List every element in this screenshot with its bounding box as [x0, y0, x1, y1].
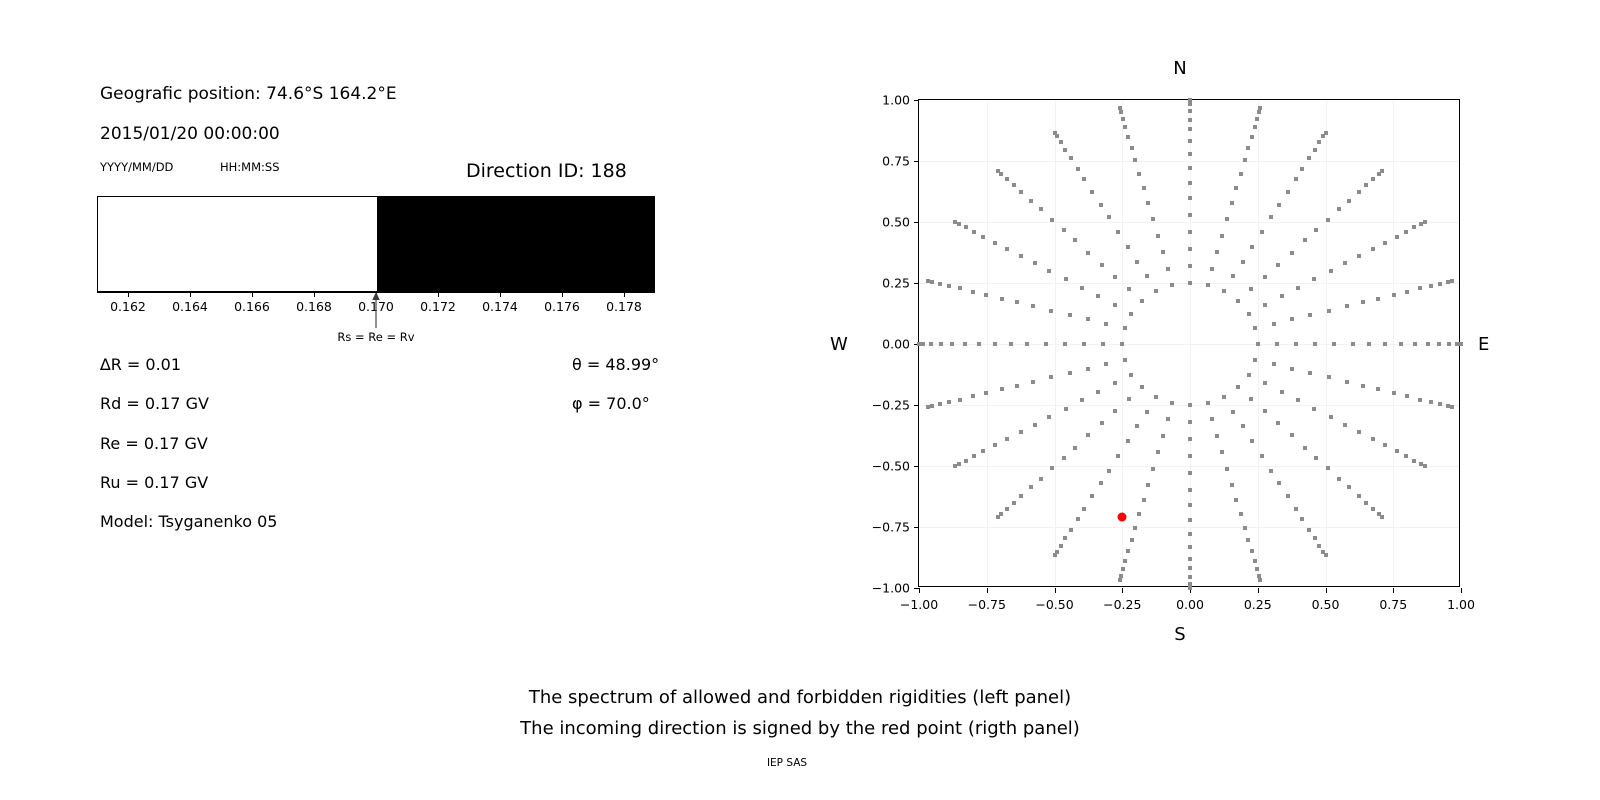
direction-dot — [1280, 390, 1284, 394]
direction-dot — [1429, 284, 1433, 288]
direction-dot — [1188, 247, 1192, 251]
spectrum-tick-label: 0.174 — [482, 299, 518, 314]
direction-dot — [1423, 220, 1427, 224]
direction-dot — [1286, 190, 1290, 194]
direction-dot — [930, 404, 934, 408]
polar-y-tick-label: −0.50 — [872, 459, 910, 474]
direction-dot — [1263, 409, 1267, 413]
direction-dot — [1135, 424, 1139, 428]
direction-dot — [1313, 342, 1317, 346]
direction-dot — [1151, 467, 1155, 471]
direction-dot — [1249, 397, 1253, 401]
direction-dot — [926, 279, 930, 283]
direction-dot — [996, 515, 1000, 519]
direction-dot — [1253, 125, 1257, 129]
param-delta-r: ∆R = 0.01 — [100, 355, 181, 374]
direction-dot — [1113, 275, 1117, 279]
direction-dot — [1101, 342, 1105, 346]
direction-dot — [1257, 110, 1261, 114]
direction-dot — [1029, 485, 1033, 489]
direction-dot — [1188, 586, 1192, 590]
spectrum-tick-label: 0.176 — [544, 299, 580, 314]
direction-dot — [1076, 167, 1080, 171]
direction-dot — [1121, 567, 1125, 571]
direction-dot — [1188, 575, 1192, 579]
direction-dot — [1376, 297, 1380, 301]
spectrum-tick-label: 0.178 — [606, 299, 642, 314]
direction-dot — [930, 280, 934, 284]
direction-dot — [1296, 398, 1300, 402]
polar-y-tick-label: −1.00 — [872, 581, 910, 596]
footer-credit: IEP SAS — [767, 757, 807, 769]
direction-dot — [1447, 342, 1451, 346]
direction-dot — [1142, 186, 1146, 190]
direction-dot — [1086, 367, 1090, 371]
direction-dot — [1343, 423, 1347, 427]
direction-dot — [1277, 481, 1281, 485]
polar-y-tick — [914, 100, 919, 101]
direction-dot — [1170, 401, 1174, 405]
gridline-vertical — [1393, 100, 1394, 586]
direction-dot — [1000, 387, 1004, 391]
incoming-direction-point — [1118, 513, 1127, 522]
direction-dot — [1161, 434, 1165, 438]
direction-dot — [1210, 417, 1214, 421]
direction-dot — [1005, 437, 1009, 441]
spectrum-tick — [438, 292, 439, 297]
direction-dot — [1290, 251, 1294, 255]
direction-dot — [1364, 501, 1368, 505]
direction-dot — [1399, 342, 1403, 346]
direction-dot — [1255, 117, 1259, 121]
direction-dot — [1276, 421, 1280, 425]
caption-line-1: The spectrum of allowed and forbidden ri… — [529, 687, 1071, 708]
direction-dot — [1371, 507, 1375, 511]
direction-dot — [1188, 213, 1192, 217]
direction-dot — [972, 230, 976, 234]
polar-y-tick-label: 0.25 — [882, 276, 910, 291]
direction-dot — [1154, 395, 1158, 399]
direction-dot — [1255, 567, 1259, 571]
direction-dot — [1253, 559, 1257, 563]
direction-dot — [1405, 290, 1409, 294]
direction-dot — [1188, 488, 1192, 492]
direction-dot — [1438, 282, 1442, 286]
direction-dot — [1068, 371, 1072, 375]
spectrum-tick — [252, 292, 253, 297]
direction-dot — [964, 459, 968, 463]
direction-dot — [1236, 385, 1240, 389]
direction-dot — [1073, 446, 1077, 450]
direction-dot — [1418, 286, 1422, 290]
direction-dot — [1450, 279, 1454, 283]
direction-dot — [1033, 423, 1037, 427]
direction-dot — [1263, 275, 1267, 279]
param-theta: θ = 48.99° — [572, 355, 659, 374]
direction-dot — [1347, 485, 1351, 489]
asymptotic-direction-plot: −1.00−0.75−0.50−0.250.000.250.500.751.00… — [918, 99, 1460, 587]
spectrum-tick-label: 0.164 — [172, 299, 208, 314]
rs-marker-arrow-icon — [369, 292, 383, 328]
direction-dot — [1188, 557, 1192, 561]
direction-dot — [1250, 549, 1254, 553]
direction-dot — [1413, 342, 1417, 346]
polar-y-tick-label: 1.00 — [882, 93, 910, 108]
direction-dot — [1076, 517, 1080, 521]
direction-dot — [1090, 494, 1094, 498]
direction-dot — [1247, 312, 1251, 316]
direction-dot — [1250, 439, 1254, 443]
direction-dot — [1161, 250, 1165, 254]
polar-y-tick-label: −0.25 — [872, 398, 910, 413]
direction-dot — [1308, 371, 1312, 375]
direction-dot — [1210, 267, 1214, 271]
direction-dot — [1080, 286, 1084, 290]
direction-dot — [1231, 274, 1235, 278]
direction-dot — [1429, 400, 1433, 404]
direction-dot — [1188, 196, 1192, 200]
direction-dot — [1450, 405, 1454, 409]
direction-dot — [1073, 238, 1077, 242]
direction-dot — [1049, 309, 1053, 313]
direction-dot — [1064, 277, 1068, 281]
direction-dot — [1380, 169, 1384, 173]
direction-dot — [1033, 261, 1037, 265]
direction-dot — [1188, 503, 1192, 507]
direction-dot — [1312, 277, 1316, 281]
direction-dot — [1126, 135, 1130, 139]
direction-dot — [1239, 512, 1243, 516]
direction-dot — [1137, 172, 1141, 176]
direction-dot — [1050, 218, 1054, 222]
polar-y-tick — [914, 283, 919, 284]
polar-y-tick-label: 0.75 — [882, 154, 910, 169]
spectrum-tick — [190, 292, 191, 297]
direction-dot — [1080, 398, 1084, 402]
direction-dot — [1327, 375, 1331, 379]
direction-dot — [921, 342, 925, 346]
direction-dot — [1062, 228, 1066, 232]
direction-dot — [1142, 498, 1146, 502]
direction-dot — [1276, 263, 1280, 267]
polar-y-tick — [914, 222, 919, 223]
date-format-hint: YYYY/MM/DD — [100, 160, 173, 174]
spectrum-tick-label: 0.172 — [420, 299, 456, 314]
direction-dot — [1123, 326, 1127, 330]
direction-dot — [1314, 228, 1318, 232]
direction-dot — [953, 464, 957, 468]
direction-dot — [1263, 381, 1267, 385]
param-ru: Ru = 0.17 GV — [100, 473, 208, 492]
polar-y-tick — [914, 527, 919, 528]
polar-y-tick-label: −0.75 — [872, 520, 910, 535]
datetime-value: 2015/01/20 00:00:00 — [100, 124, 280, 144]
direction-dot — [1371, 177, 1375, 181]
direction-dot — [957, 222, 961, 226]
direction-dot — [1123, 559, 1127, 563]
direction-dot — [1019, 254, 1023, 258]
direction-dot — [1113, 409, 1117, 413]
direction-dot — [1151, 217, 1155, 221]
direction-dot — [1053, 553, 1057, 557]
direction-dot — [917, 342, 921, 346]
direction-dot — [1246, 538, 1250, 542]
direction-dot — [972, 454, 976, 458]
direction-dot — [1166, 417, 1170, 421]
polar-x-tick — [987, 588, 988, 593]
direction-dot — [1044, 342, 1048, 346]
direction-dot — [1047, 415, 1051, 419]
direction-dot — [1275, 342, 1279, 346]
direction-dot — [1188, 98, 1192, 102]
direction-dot — [1127, 287, 1131, 291]
direction-dot — [938, 402, 942, 406]
direction-dot — [1247, 373, 1251, 377]
direction-dot — [1140, 299, 1144, 303]
direction-dot — [1313, 536, 1317, 540]
spectrum-tick-label: 0.162 — [110, 299, 146, 314]
direction-dot — [1220, 234, 1224, 238]
direction-dot — [1423, 464, 1427, 468]
polar-x-tick-label: −0.50 — [1035, 597, 1073, 612]
direction-dot — [1188, 230, 1192, 234]
rigidity-spectrum-bar — [97, 196, 655, 292]
gridline-horizontal — [919, 161, 1459, 162]
direction-dot — [1307, 156, 1311, 160]
direction-dot — [1300, 517, 1304, 521]
direction-dot — [1130, 146, 1134, 150]
direction-dot — [1317, 544, 1321, 548]
polar-y-tick — [914, 161, 919, 162]
direction-dot — [1047, 269, 1051, 273]
direction-dot — [1188, 109, 1192, 113]
direction-dot — [958, 398, 962, 402]
direction-dot — [1303, 446, 1307, 450]
direction-dot — [1107, 215, 1111, 219]
direction-dot — [1188, 166, 1192, 170]
direction-dot — [1256, 342, 1260, 346]
direction-dot — [1294, 177, 1298, 181]
direction-dot — [1329, 415, 1333, 419]
direction-dot — [1140, 385, 1144, 389]
direction-dot — [1096, 294, 1100, 298]
direction-dot — [1345, 304, 1349, 308]
direction-dot — [1099, 203, 1103, 207]
direction-dot — [1121, 117, 1125, 121]
direction-dot — [1049, 375, 1053, 379]
direction-dot — [1015, 384, 1019, 388]
gridline-horizontal — [919, 466, 1459, 467]
direction-dot — [1126, 549, 1130, 553]
spectrum-tick — [624, 292, 625, 297]
direction-dot — [1383, 342, 1387, 346]
compass-label-north: N — [1173, 58, 1186, 79]
direction-dot — [1059, 140, 1063, 144]
direction-dot — [1063, 148, 1067, 152]
gridline-vertical — [1326, 100, 1327, 586]
direction-dot — [958, 286, 962, 290]
polar-x-tick-label: −0.25 — [1103, 597, 1141, 612]
direction-dot — [1123, 125, 1127, 129]
direction-dot — [1039, 207, 1043, 211]
direction-dot — [977, 342, 981, 346]
direction-dot — [1082, 177, 1086, 181]
direction-dot — [1188, 454, 1192, 458]
compass-label-south: S — [1174, 624, 1185, 645]
direction-dot — [1371, 247, 1375, 251]
direction-dot — [1404, 454, 1408, 458]
param-model: Model: Tsyganenko 05 — [100, 512, 277, 531]
direction-dot — [947, 284, 951, 288]
direction-dot — [1290, 433, 1294, 437]
direction-dot — [1404, 230, 1408, 234]
spectrum-tick — [562, 292, 563, 297]
direction-dot — [1127, 397, 1131, 401]
direction-dot — [1357, 190, 1361, 194]
direction-dot — [1107, 469, 1111, 473]
direction-dot — [1307, 528, 1311, 532]
direction-dot — [1367, 342, 1371, 346]
direction-dot — [1133, 158, 1137, 162]
direction-dot — [1000, 297, 1004, 301]
direction-dot — [1113, 381, 1117, 385]
direction-dot — [1241, 424, 1245, 428]
direction-dot — [1126, 439, 1130, 443]
direction-dot — [1438, 402, 1442, 406]
direction-dot — [1357, 430, 1361, 434]
direction-dot — [1146, 201, 1150, 205]
direction-dot — [1308, 313, 1312, 317]
direction-dot — [1086, 251, 1090, 255]
direction-dot — [1090, 190, 1094, 194]
direction-dot — [1135, 260, 1139, 264]
param-phi: φ = 70.0° — [572, 394, 650, 413]
direction-dot — [993, 342, 997, 346]
direction-dot — [1123, 358, 1127, 362]
polar-y-tick-label: 0.50 — [882, 215, 910, 230]
direction-dot — [1005, 177, 1009, 181]
spectrum-tick-label: 0.168 — [296, 299, 332, 314]
direction-dot — [1300, 167, 1304, 171]
polar-x-tick-label: 0.50 — [1312, 597, 1340, 612]
direction-dot — [1012, 183, 1016, 187]
compass-label-east: E — [1478, 334, 1489, 355]
spectrum-tick — [314, 292, 315, 297]
direction-dot — [1133, 526, 1137, 530]
direction-dot — [1405, 394, 1409, 398]
direction-dot — [1314, 456, 1318, 460]
param-re: Re = 0.17 GV — [100, 434, 208, 453]
direction-dot — [1380, 515, 1384, 519]
direction-dot — [1116, 230, 1120, 234]
polar-x-tick-label: −1.00 — [900, 597, 938, 612]
direction-dot — [1253, 326, 1257, 330]
direction-dot — [1009, 342, 1013, 346]
spectrum-tick-label: 0.166 — [234, 299, 270, 314]
direction-dot — [1317, 140, 1321, 144]
gridline-vertical — [1055, 100, 1056, 586]
direction-dot — [1392, 293, 1396, 297]
direction-dot — [1031, 380, 1035, 384]
direction-dot — [1230, 483, 1234, 487]
direction-dot — [1031, 304, 1035, 308]
direction-dot — [1286, 494, 1290, 498]
direction-dot — [1130, 538, 1134, 542]
direction-dot — [996, 169, 1000, 173]
gridline-vertical — [1190, 100, 1191, 586]
direction-dot — [964, 225, 968, 229]
spectrum-allowed-region — [377, 197, 654, 291]
direction-dot — [1100, 263, 1104, 267]
direction-dot — [1156, 234, 1160, 238]
direction-dot — [1104, 322, 1108, 326]
direction-dot — [1269, 215, 1273, 219]
gridline-horizontal — [919, 222, 1459, 223]
direction-dot — [1053, 131, 1057, 135]
direction-dot — [1116, 454, 1120, 458]
direction-id-label: Direction ID: 188 — [466, 160, 627, 182]
direction-dot — [1313, 148, 1317, 152]
direction-dot — [1280, 294, 1284, 298]
direction-dot — [1062, 456, 1066, 460]
direction-dot — [1063, 536, 1067, 540]
direction-dot — [1188, 127, 1192, 131]
direction-dot — [1230, 201, 1234, 205]
direction-dot — [1215, 434, 1219, 438]
direction-dot — [1188, 471, 1192, 475]
direction-dot — [1222, 395, 1226, 399]
direction-dot — [1290, 317, 1294, 321]
direction-dot — [1395, 235, 1399, 239]
polar-x-tick — [919, 588, 920, 593]
direction-dot — [1234, 186, 1238, 190]
polar-y-tick — [914, 466, 919, 467]
direction-dot — [1188, 281, 1192, 285]
caption-line-2: The incoming direction is signed by the … — [520, 718, 1080, 739]
direction-dot — [1019, 494, 1023, 498]
direction-dot — [1019, 190, 1023, 194]
direction-dot — [1296, 286, 1300, 290]
direction-dot — [1188, 152, 1192, 156]
direction-dot — [1206, 283, 1210, 287]
direction-dot — [1129, 312, 1133, 316]
polar-x-tick — [1055, 588, 1056, 593]
gridline-vertical — [987, 100, 988, 586]
direction-dot — [1269, 469, 1273, 473]
polar-x-tick-label: 1.00 — [1447, 597, 1475, 612]
direction-dot — [981, 235, 985, 239]
direction-dot — [1068, 313, 1072, 317]
direction-dot — [1188, 566, 1192, 570]
direction-dot — [1113, 303, 1117, 307]
direction-dot — [1376, 387, 1380, 391]
direction-dot — [1357, 254, 1361, 258]
direction-dot — [1118, 106, 1122, 110]
direction-dot — [1188, 545, 1192, 549]
direction-dot — [1324, 553, 1328, 557]
direction-dot — [1188, 102, 1192, 106]
direction-dot — [1253, 358, 1257, 362]
direction-dot — [1100, 421, 1104, 425]
direction-dot — [1290, 367, 1294, 371]
direction-dot — [1154, 289, 1158, 293]
direction-dot — [1437, 342, 1441, 346]
direction-dot — [1337, 207, 1341, 211]
direction-dot — [1347, 199, 1351, 203]
direction-dot — [971, 290, 975, 294]
direction-dot — [1050, 466, 1054, 470]
direction-dot — [1243, 526, 1247, 530]
